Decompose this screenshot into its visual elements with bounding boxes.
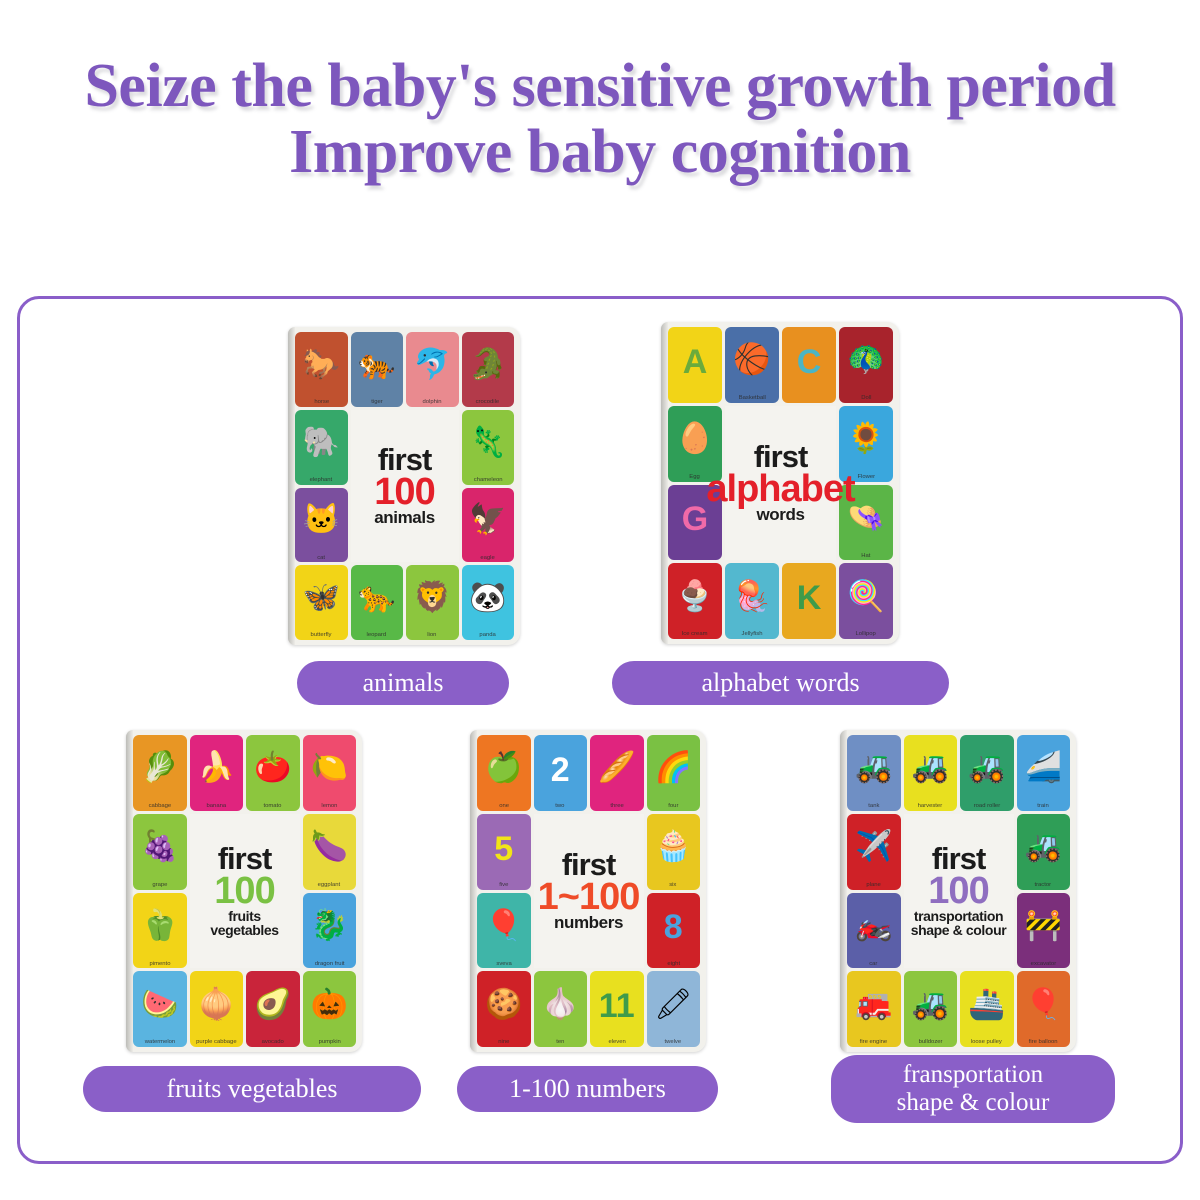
cover-tile-tractor: 🚜tractor (1017, 814, 1071, 890)
tile-caption: cabbage (148, 803, 171, 810)
cover-tile-two: 2two (534, 735, 588, 811)
cover-tile-chameleon: 🦎chameleon (462, 410, 515, 485)
book-grid: 🚜tank🚜harvester🚜road roller🚄train✈️plane… (840, 730, 1076, 1052)
tile-artwork: 🦅 (469, 505, 506, 535)
tile-artwork: 🐎 (303, 350, 340, 380)
tile-artwork: 🐊 (469, 350, 506, 380)
cover-tile-dragon-fruit: 🐉dragon fruit (303, 893, 357, 969)
tile-caption: twelve (665, 1039, 682, 1046)
tile-artwork: 🫑 (141, 911, 178, 941)
tile-artwork: 🐱 (303, 505, 340, 535)
cover-tile-three: 🥖three (590, 735, 644, 811)
tile-caption: five (499, 882, 508, 889)
tile-artwork: 🍨 (676, 582, 713, 612)
cover-tile-eggplant: 🍆eggplant (303, 814, 357, 890)
book-cover-transportation[interactable]: 🚜tank🚜harvester🚜road roller🚄train✈️plane… (840, 730, 1076, 1052)
cover-tile-eagle: 🦅eagle (462, 488, 515, 563)
tile-caption: fire engine (860, 1039, 887, 1046)
tile-caption: crocodile (476, 399, 500, 406)
cover-tile-grape: 🍇grape (133, 814, 187, 890)
cover-tile-tomato: 🍅tomato (246, 735, 300, 811)
tile-caption: panda (480, 632, 496, 639)
book-grid: A🏀BasketballC🦚Doll🥚Egg🌻FlowerG👒Hat🍨Ice c… (661, 322, 899, 644)
tile-caption: watermelon (145, 1039, 175, 1046)
tile-caption: butterfly (311, 632, 332, 639)
tile-caption: sveva (496, 961, 511, 968)
cover-tile-watermelon: 🍉watermelon (133, 971, 187, 1047)
cover-tile-ice-cream: 🍨Ice cream (668, 563, 722, 639)
tile-artwork: ✈️ (855, 832, 892, 862)
tile-artwork: 🍇 (141, 832, 178, 862)
tile-caption: one (499, 803, 509, 810)
tile-caption: Flower (857, 474, 875, 481)
tile-artwork: 🎃 (311, 990, 348, 1020)
book-cover-fruits-vegetables[interactable]: 🥬cabbage🍌banana🍅tomato🍋lemon🍇grape🍆eggpl… (126, 730, 362, 1052)
cover-tile-horse: 🐎horse (295, 332, 348, 407)
tile-caption: tank (868, 803, 879, 810)
tile-glyph: 2 (534, 753, 588, 787)
tile-caption: nine (498, 1039, 509, 1046)
tile-artwork: 🐬 (414, 350, 451, 380)
cover-title-sub: words (756, 507, 804, 524)
tile-caption: Doll (861, 395, 871, 402)
tile-caption: dragon fruit (314, 961, 344, 968)
tile-artwork: 🐉 (311, 911, 348, 941)
tile-artwork: 🧄 (542, 990, 579, 1020)
cover-tile-tiger: 🐅tiger (351, 332, 404, 407)
tile-caption: four (668, 803, 678, 810)
tile-artwork: 🥚 (676, 424, 713, 454)
caption-label: animals (363, 668, 444, 697)
cover-tile-lollipop: 🍭Lollipop (839, 563, 893, 639)
tile-artwork: 🖍 (654, 990, 692, 1020)
tile-caption: plane (867, 882, 881, 889)
tile-artwork: 🦋 (303, 583, 340, 613)
cover-tile-one: 🍏one (477, 735, 531, 811)
tile-caption: elephant (310, 477, 333, 484)
cover-tile-six: 🧁six (647, 814, 701, 890)
tile-caption: Jellyfish (742, 631, 763, 638)
headline-line-1: Seize the baby's sensitive growth period (84, 52, 1115, 120)
cover-tile-elephant: 🐘elephant (295, 410, 348, 485)
tile-artwork: 🍏 (485, 753, 522, 783)
tile-caption: banana (206, 803, 226, 810)
cover-tile-eleven: 11eleven (590, 971, 644, 1047)
tile-artwork: 🚜 (912, 990, 949, 1020)
tile-caption: chameleon (473, 477, 502, 484)
cover-title-big: 100 (374, 474, 434, 511)
caption-label: fransportation shape & colour (897, 1061, 1050, 1117)
tile-caption: eggplant (318, 882, 341, 889)
tile-glyph: 5 (477, 832, 531, 866)
tile-caption: horse (314, 399, 329, 406)
tile-caption: train (1038, 803, 1049, 810)
cover-tile-crocodile: 🐊crocodile (462, 332, 515, 407)
tile-caption: Ice cream (682, 631, 708, 638)
tile-artwork: 🚜 (968, 753, 1005, 783)
cover-title-big: 100 (928, 873, 988, 910)
tile-caption: lemon (321, 803, 337, 810)
tile-artwork: 🎈 (1025, 990, 1062, 1020)
cover-tile-dolphin: 🐬dolphin (406, 332, 459, 407)
cover-tile-K: K (782, 563, 836, 639)
tile-artwork: 🐘 (303, 428, 340, 458)
caption-label-line-2: shape & colour (897, 1089, 1050, 1116)
tile-caption: road roller (974, 803, 1000, 810)
tile-artwork: 🍆 (311, 832, 348, 862)
cover-tile-pimento: 🫑pimento (133, 893, 187, 969)
tile-artwork: 🧅 (198, 990, 235, 1020)
cover-tile-four: 🌈four (647, 735, 701, 811)
cover-tile-twelve: 🖍twelve (647, 971, 701, 1047)
page-title: Seize the baby's sensitive growth period… (0, 54, 1200, 185)
tile-artwork: 🍪 (485, 990, 522, 1020)
tile-artwork: 🏀 (733, 345, 770, 375)
cover-title-sub: animals (374, 510, 435, 527)
tile-caption: car (870, 961, 878, 968)
cover-tile-banana: 🍌banana (190, 735, 244, 811)
cover-tile-butterfly: 🦋butterfly (295, 565, 348, 640)
tile-caption: pimento (149, 961, 170, 968)
cover-title-sub: numbers (554, 915, 623, 932)
caption-label: fruits vegetables (166, 1074, 337, 1103)
caption-label-line-1: fransportation (903, 1061, 1043, 1088)
cover-tile-C: C (782, 327, 836, 403)
cover-title-sub2: shape & colour (911, 924, 1007, 938)
tile-caption: excavator (1030, 961, 1055, 968)
tile-artwork: 🚜 (855, 753, 892, 783)
tile-artwork: 🚜 (1025, 832, 1062, 862)
cover-tile-fire-engine: 🚒fire engine (847, 971, 901, 1047)
cover-tile-lemon: 🍋lemon (303, 735, 357, 811)
cover-tile-train: 🚄train (1017, 735, 1071, 811)
tile-artwork: 🚄 (1025, 753, 1062, 783)
tile-artwork: 🚜 (912, 753, 949, 783)
book-cover-numbers[interactable]: 🍏one2two🥖three🌈four5five🧁six🎈sveva8eight… (470, 730, 706, 1052)
tile-artwork: 🐆 (358, 583, 395, 613)
cover-tile-jellyfish: 🪼Jellyfish (725, 563, 779, 639)
cover-tile-bulldozer: 🚜bulldozer (904, 971, 958, 1047)
cover-tile-harvester: 🚜harvester (904, 735, 958, 811)
tile-artwork: 🪼 (733, 582, 770, 612)
tile-artwork: 🍅 (254, 753, 291, 783)
tile-artwork: 🚢 (968, 990, 1005, 1020)
tile-caption: bulldozer (918, 1039, 942, 1046)
tile-artwork: 🍌 (198, 753, 235, 783)
cover-tile-cat: 🐱cat (295, 488, 348, 563)
tile-artwork: 🥬 (141, 753, 178, 783)
cover-tile-basketball: 🏀Basketball (725, 327, 779, 403)
tile-caption: tractor (1035, 882, 1052, 889)
tile-caption: six (670, 882, 677, 889)
infographic-page: Seize the baby's sensitive growth period… (0, 0, 1200, 1200)
tile-caption: eleven (608, 1039, 625, 1046)
tile-caption: lion (428, 632, 437, 639)
tile-caption: Egg (690, 474, 700, 481)
book-cover-animals[interactable]: 🐎horse🐅tiger🐬dolphin🐊crocodile🐘elephant🦎… (288, 327, 520, 645)
cover-tile-ten: 🧄ten (534, 971, 588, 1047)
tile-caption: Lollipop (856, 631, 876, 638)
cover-title-big: 100 (214, 873, 274, 910)
cover-title-big: alphabet (706, 471, 854, 508)
caption-pill-alphabet-words[interactable]: alphabet words (612, 661, 949, 705)
tile-artwork: 🌻 (847, 424, 884, 454)
tile-artwork: 🍋 (311, 753, 348, 783)
book-grid: 🍏one2two🥖three🌈four5five🧁six🎈sveva8eight… (470, 730, 706, 1052)
cover-tile-plane: ✈️plane (847, 814, 901, 890)
cover-title-block: first100fruitsvegetables (190, 814, 300, 969)
tile-artwork: 🍉 (141, 990, 178, 1020)
cover-tile-fire-balloon: 🎈fire balloon (1017, 971, 1071, 1047)
tile-artwork: 🐅 (358, 350, 395, 380)
cover-title-block: firstalphabetwords (725, 406, 836, 561)
cover-tile-excavator: 🚧excavator (1017, 893, 1071, 969)
tile-artwork: 🦁 (414, 583, 451, 613)
tile-caption: dolphin (423, 399, 442, 406)
tile-caption: cat (317, 555, 325, 562)
cover-tile-tank: 🚜tank (847, 735, 901, 811)
cover-tile-eight: 8eight (647, 893, 701, 969)
tile-caption: three (610, 803, 623, 810)
cover-title-block: first100transportationshape & colour (904, 814, 1014, 969)
tile-glyph: K (782, 581, 836, 615)
cover-tile-leopard: 🐆leopard (351, 565, 404, 640)
tile-caption: tiger (371, 399, 382, 406)
cover-tile-loose-pulley: 🚢loose pulley (960, 971, 1014, 1047)
tile-artwork: 🚒 (855, 990, 892, 1020)
tile-caption: Basketball (738, 395, 765, 402)
tile-glyph: C (782, 345, 836, 379)
tile-artwork: 🚧 (1025, 911, 1062, 941)
cover-title-big: 1~100 (538, 879, 640, 916)
tile-artwork: 🍭 (847, 582, 884, 612)
caption-pill-animals[interactable]: animals (297, 661, 509, 705)
cover-tile-five: 5five (477, 814, 531, 890)
caption-label: alphabet words (701, 668, 859, 697)
tile-caption: loose pulley (971, 1039, 1002, 1046)
cover-tile-road-roller: 🚜road roller (960, 735, 1014, 811)
tile-caption: avocado (262, 1039, 284, 1046)
tile-caption: harvester (918, 803, 943, 810)
cover-tile-A: A (668, 327, 722, 403)
tile-glyph: 11 (590, 989, 644, 1023)
cover-tile-lion: 🦁lion (406, 565, 459, 640)
tile-caption: Hat (861, 553, 870, 560)
cover-tile-avocado: 🥑avocado (246, 971, 300, 1047)
cover-title-block: first1~100numbers (534, 814, 644, 969)
tile-glyph: A (668, 345, 722, 379)
tile-artwork: 🏍️ (855, 911, 892, 941)
cover-tile-panda: 🐼panda (462, 565, 515, 640)
tile-artwork: 🌈 (655, 753, 692, 783)
headline-line-2: Improve baby cognition (0, 120, 1200, 186)
tile-artwork: 🥖 (598, 753, 635, 783)
cover-title-sub2: vegetables (210, 924, 278, 938)
caption-pill-numbers[interactable]: 1-100 numbers (457, 1066, 718, 1112)
book-grid: 🐎horse🐅tiger🐬dolphin🐊crocodile🐘elephant🦎… (288, 327, 520, 645)
cover-tile-pumpkin: 🎃pumpkin (303, 971, 357, 1047)
tile-artwork: 🥑 (254, 990, 291, 1020)
tile-caption: leopard (367, 632, 387, 639)
tile-artwork: 🧁 (655, 832, 692, 862)
caption-pill-transportation[interactable]: fransportation shape & colour (831, 1055, 1115, 1123)
caption-pill-fruits-vegetables[interactable]: fruits vegetables (83, 1066, 421, 1112)
cover-tile-nine: 🍪nine (477, 971, 531, 1047)
book-cover-alphabet-words[interactable]: A🏀BasketballC🦚Doll🥚Egg🌻FlowerG👒Hat🍨Ice c… (661, 322, 899, 644)
tile-caption: eagle (481, 555, 495, 562)
book-grid: 🥬cabbage🍌banana🍅tomato🍋lemon🍇grape🍆eggpl… (126, 730, 362, 1052)
tile-artwork: 🦚 (847, 345, 884, 375)
tile-glyph: 8 (647, 910, 701, 944)
tile-caption: two (556, 803, 565, 810)
tile-caption: fire balloon (1029, 1039, 1058, 1046)
cover-tile-car: 🏍️car (847, 893, 901, 969)
cover-tile-sveva: 🎈sveva (477, 893, 531, 969)
tile-caption: pumpkin (318, 1039, 340, 1046)
tile-caption: grape (152, 882, 167, 889)
tile-artwork: 🐼 (469, 583, 506, 613)
caption-label: 1-100 numbers (509, 1074, 666, 1103)
cover-title-block: first100animals (351, 410, 459, 563)
tile-artwork: 🦎 (469, 428, 506, 458)
tile-caption: eight (667, 961, 680, 968)
tile-caption: tomato (264, 803, 282, 810)
cover-tile-purple-cabbage: 🧅purple cabbage (190, 971, 244, 1047)
tile-caption: purple cabbage (196, 1039, 237, 1046)
tile-artwork: 🎈 (485, 911, 522, 941)
cover-tile-cabbage: 🥬cabbage (133, 735, 187, 811)
tile-caption: ten (556, 1039, 564, 1046)
cover-tile-doll: 🦚Doll (839, 327, 893, 403)
